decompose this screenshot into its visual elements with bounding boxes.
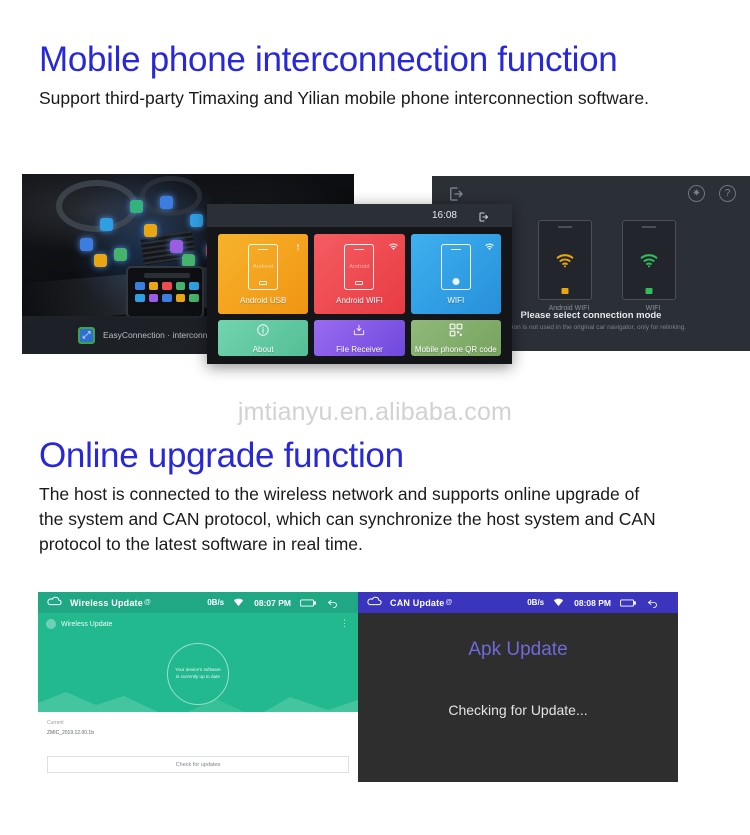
launcher-tile-grid: Android Android USB Android [218, 234, 501, 356]
battery-icon [620, 598, 636, 608]
wifi-icon [484, 239, 495, 257]
section-body-mobile-interconnection: Support third-party Timaxing and Yilian … [39, 86, 679, 111]
tile-android-wifi[interactable]: Android Android WIFI [314, 234, 404, 314]
phone-outline-icon [538, 220, 592, 300]
phone-outline-icon: Android [344, 244, 374, 290]
head-unit-statusbar [144, 273, 190, 278]
statusbar-at-symbol: @ [446, 599, 453, 606]
check-for-updates-button[interactable]: Check for updates [47, 756, 349, 773]
current-version-label: Current [47, 720, 64, 726]
product-detail-page: Mobile phone interconnection function Su… [0, 0, 750, 835]
launcher-statusbar: 16:08 [207, 204, 512, 227]
checking-for-update-status: Checking for Update... [358, 702, 678, 718]
phone-outline-icon [441, 244, 471, 290]
apk-update-heading: Apk Update [358, 639, 678, 661]
phone-outline-icon: Android [248, 244, 278, 290]
current-version-value: ZMIC_2019.12.00.1b [47, 730, 94, 736]
gear-icon[interactable]: ✷ [688, 185, 705, 202]
wireless-update-screenshot: Wireless Update @ 0B/s 08:07 PM [38, 592, 358, 782]
app-icon [46, 619, 56, 629]
overflow-menu-icon[interactable]: ⋮ [340, 620, 349, 626]
statusbar-at-symbol: @ [144, 599, 151, 606]
cloud-icon [367, 596, 382, 609]
download-box-icon [352, 323, 366, 342]
phone-outline-icon [622, 220, 676, 300]
update-status-line1: Your device's software [175, 667, 221, 674]
wifi-icon [553, 597, 564, 608]
tile-about[interactable]: About [218, 320, 308, 356]
battery-icon [300, 598, 316, 608]
update-screenshots: Wireless Update @ 0B/s 08:07 PM [0, 592, 750, 787]
hero-screens-composite: ✷ ? Android USB [0, 160, 750, 395]
wireless-update-statusbar: Wireless Update @ 0B/s 08:07 PM [38, 592, 358, 613]
wifi-icon [233, 597, 244, 608]
exit-icon[interactable] [446, 185, 466, 203]
page-title-mobile-interconnection: Mobile phone interconnection function [39, 42, 617, 79]
head-unit-device [126, 266, 204, 318]
back-arrow-icon[interactable] [646, 597, 659, 609]
easyconnection-logo-icon [78, 327, 95, 344]
tile-mobile-phone-qr-code[interactable]: Mobile phone QR code [411, 320, 501, 356]
launcher-clock: 16:08 [432, 210, 457, 221]
statusbar-time: 08:08 PM [574, 598, 611, 608]
tile-label: About [253, 345, 274, 354]
easyconnection-caption-text: EasyConnection · interconnect [103, 330, 219, 340]
connection-card-android-wifi[interactable]: Android WIFI [538, 220, 600, 305]
tile-label: WIFI [447, 296, 464, 305]
can-update-statusbar: CAN Update @ 0B/s 08:08 PM [358, 592, 678, 613]
statusbar-data-rate: 0B/s [207, 598, 224, 607]
section-body-online-upgrade: The host is connected to the wireless ne… [39, 482, 659, 557]
statusbar-data-rate: 0B/s [527, 598, 544, 607]
head-unit-app-grid [135, 282, 199, 302]
can-update-body: Apk Update Checking for Update... [358, 613, 678, 782]
tile-label: File Receiver [336, 345, 383, 354]
tile-label: Mobile phone QR code [415, 345, 497, 354]
question-icon[interactable]: ? [719, 185, 736, 202]
qr-code-icon [449, 323, 463, 342]
wireless-update-hero: Wireless Update ⋮ Your device's software… [38, 613, 358, 712]
watermark: jmtianyu.en.alibaba.com [0, 398, 750, 427]
wifi-icon [388, 239, 399, 257]
exit-icon[interactable] [477, 210, 490, 222]
tile-label: Android USB [240, 296, 286, 305]
update-status-line2: is currently up to date [176, 674, 220, 681]
launcher-screen: 16:08 Android [207, 204, 512, 364]
connection-screen-actions: ✷ ? [688, 185, 736, 202]
mountain-decoration [38, 686, 358, 712]
page-title-online-upgrade: Online upgrade function [39, 438, 404, 475]
tile-file-receiver[interactable]: File Receiver [314, 320, 404, 356]
tile-label: Android WIFI [336, 296, 383, 305]
cloud-icon [47, 596, 62, 609]
wifi-icon [554, 249, 576, 271]
wifi-icon [638, 249, 660, 271]
tile-android-usb[interactable]: Android Android USB [218, 234, 308, 314]
wireless-update-details: Current ZMIC_2019.12.00.1b Check for upd… [38, 712, 358, 782]
statusbar-time: 08:07 PM [254, 598, 291, 608]
statusbar-title: CAN Update [390, 598, 445, 608]
info-icon [256, 323, 270, 342]
wireless-update-app-header: Wireless Update [46, 619, 112, 629]
back-arrow-icon[interactable] [326, 597, 339, 609]
connection-card-wifi[interactable]: WIFI [622, 220, 684, 305]
statusbar-title: Wireless Update [70, 598, 143, 608]
android-wordmark: Android [253, 264, 273, 270]
app-title: Wireless Update [61, 621, 112, 628]
usb-icon [294, 239, 302, 257]
can-update-screenshot: CAN Update @ 0B/s 08:08 PM [358, 592, 678, 782]
tile-wifi[interactable]: WIFI [411, 234, 501, 314]
android-wordmark: Android [349, 264, 369, 270]
